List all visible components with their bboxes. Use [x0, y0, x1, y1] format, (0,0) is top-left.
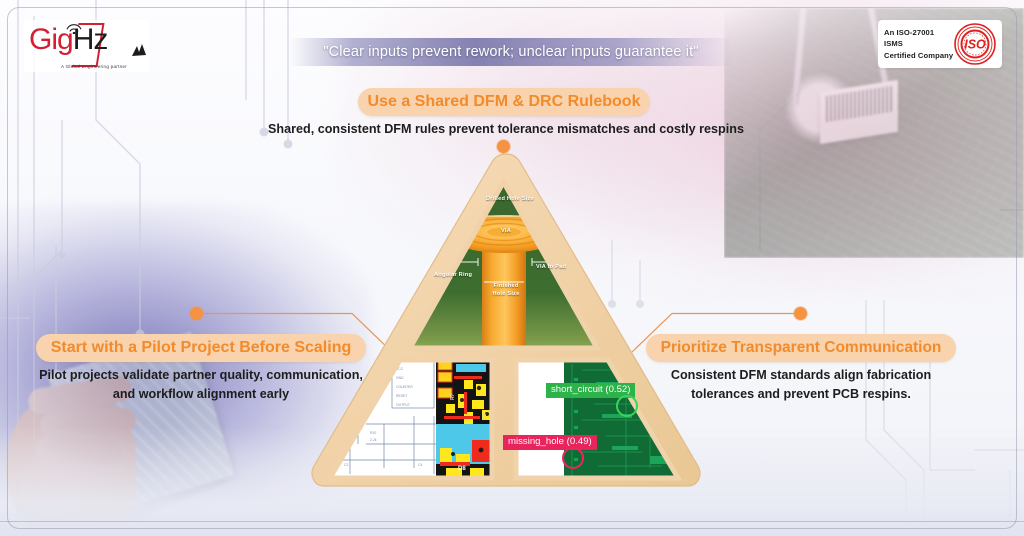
logo-text-gig: Gig	[29, 23, 73, 56]
bottom-divider	[0, 521, 1024, 522]
iso-line-2: Certified Company	[884, 50, 954, 61]
svg-text:GND: GND	[396, 376, 404, 380]
connector-dot-right	[794, 307, 807, 320]
node-title-left[interactable]: Start with a Pilot Project Before Scalin…	[36, 334, 366, 362]
infographic-canvas: GigHz A Global Engineering partner An IS…	[0, 0, 1024, 536]
svg-text:2.2k: 2.2k	[370, 438, 377, 442]
spark-icon	[131, 43, 147, 57]
label-angular-ring: Angular Ring	[434, 272, 482, 280]
svg-text:COUNTER: COUNTER	[396, 385, 413, 389]
logo-tagline: A Global Engineering partner	[61, 64, 127, 69]
svg-text:C2: C2	[344, 463, 348, 467]
node-title-right[interactable]: Prioritize Transparent Communication	[646, 334, 956, 362]
connector-dot-left	[190, 307, 203, 320]
svg-text:RESET: RESET	[396, 394, 407, 398]
iso-certification-text: An ISO-27001 ISMS Certified Company	[884, 27, 954, 61]
iso-line-1: An ISO-27001 ISMS	[884, 27, 954, 50]
svg-text:D8: D8	[458, 466, 466, 472]
detection-marker-missing-hole	[562, 447, 584, 469]
label-via: VIA	[489, 228, 523, 236]
brand-logo[interactable]: GigHz A Global Engineering partner	[24, 20, 150, 72]
iso-seal-icon: ISO	[954, 23, 996, 65]
svg-text:R10: R10	[370, 431, 376, 435]
quote-banner: "Clear inputs prevent rework; unclear in…	[290, 38, 732, 66]
svg-text:C1: C1	[482, 413, 488, 420]
svg-text:R7: R7	[450, 393, 456, 400]
node-desc-top: Shared, consistent DFM rules prevent tol…	[256, 120, 756, 139]
node-title-top[interactable]: Use a Shared DFM & DRC Rulebook	[358, 88, 650, 116]
detection-tag-missing-hole: missing_hole (0.49)	[503, 435, 597, 450]
iso-certification-badge: An ISO-27001 ISMS Certified Company ISO	[878, 20, 1002, 68]
logo-text-hz: Hz	[73, 23, 108, 56]
label-finished-hole-size: Finished Hole Size	[478, 283, 534, 298]
svg-text:C4: C4	[418, 463, 422, 467]
node-desc-right: Consistent DFM standards align fabricati…	[646, 366, 956, 404]
label-drilled-hole-size: Drilled Hole Size	[480, 196, 540, 204]
tweezer-arm-left	[791, 0, 807, 105]
smd-chip	[820, 80, 898, 144]
quote-text: "Clear inputs prevent rework; unclear in…	[323, 44, 698, 60]
svg-text:OUTPUT: OUTPUT	[396, 403, 410, 407]
svg-text:ISO: ISO	[964, 38, 986, 52]
label-via-to-pad: VIA to Pad	[536, 264, 584, 272]
detection-marker-short-circuit	[616, 395, 638, 417]
node-desc-left: Pilot projects validate partner quality,…	[36, 366, 366, 404]
